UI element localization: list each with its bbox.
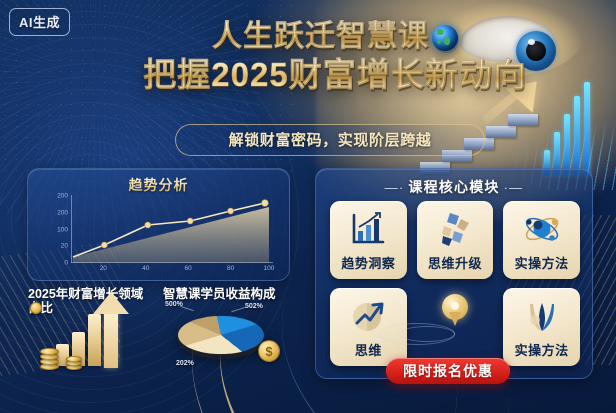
x-tick-1: 40 — [142, 265, 149, 272]
pin-tip — [449, 312, 461, 326]
location-pin-icon — [442, 294, 468, 328]
ai-generated-badge: AI生成 — [9, 8, 70, 36]
dollar-coin-icon: $ — [258, 340, 280, 362]
headline-block: 人生跃迁智慧课 把握2025财富增长新动向 — [120, 20, 550, 94]
y-tick-3: 200 — [57, 209, 68, 216]
gold-bar-chart-graphic — [38, 300, 158, 372]
atom-icon — [521, 209, 563, 249]
line-chart: 0 20 100 200 200 20 40 60 80 100 — [45, 193, 277, 275]
line-chart-svg — [71, 195, 273, 263]
pie-label-1: 502% — [245, 303, 263, 310]
bar-chart-icon — [347, 209, 389, 249]
module-card-trend-insight[interactable]: 趋势洞察 — [330, 201, 407, 279]
module-card-label: 实操方法 — [515, 253, 569, 272]
y-tick-0: 0 — [64, 260, 68, 267]
poster-canvas: AI生成 人生跃迁智慧课 把握2025财富增长新动向 解锁财富密码，实现阶层跨越… — [0, 0, 616, 413]
y-tick-2: 100 — [57, 227, 68, 234]
gold-up-arrow-icon — [104, 310, 118, 368]
trend-analysis-panel: 趋势分析 0 20 100 200 200 20 40 60 80 100 — [27, 168, 290, 281]
module-card-label: 思维升级 — [428, 253, 482, 272]
pie-leader-1 — [231, 307, 246, 313]
heading-text: 课程核心模块 — [408, 179, 499, 195]
x-tick-4: 100 — [264, 265, 275, 272]
title-line-2: 把握2025财富增长新动向 — [120, 56, 550, 94]
x-tick-2: 60 — [185, 265, 192, 272]
module-card-label: 趋势洞察 — [341, 253, 395, 272]
pie-leader-0 — [180, 306, 194, 311]
module-card-grid: 趋势洞察 思维升级 — [330, 201, 580, 366]
puzzle-icon — [434, 209, 476, 249]
heading-deco-right: ·— — [504, 180, 524, 195]
area-fill — [73, 207, 269, 263]
pie-label-2: 202% — [176, 360, 194, 367]
module-card-label: 思维 — [355, 340, 382, 359]
page-title: 人生跃迁智慧课 — [120, 20, 550, 54]
globe-icon — [432, 25, 458, 51]
pin-hole — [451, 302, 459, 310]
title-line-1: 人生跃迁智慧课 — [212, 20, 429, 53]
module-card-mindset-upgrade[interactable]: 思维升级 — [417, 201, 494, 279]
pie-section-title: 智慧课学员收益构成 — [163, 287, 289, 301]
module-card-practical-method-2[interactable]: 实操方法 — [503, 288, 580, 366]
pie-chart — [178, 316, 264, 354]
subtitle-pill: 解锁财富密码，实现阶层跨越 — [175, 124, 485, 156]
line-chart-plot: 0 20 100 200 200 20 40 60 80 100 — [71, 195, 273, 263]
core-modules-heading: —·课程核心模块·— — [316, 177, 592, 197]
y-tick-4: 200 — [57, 193, 68, 200]
cta-button[interactable]: 限时报名优惠 — [386, 358, 510, 384]
module-card-label: 实操方法 — [515, 340, 569, 359]
x-tick-0: 20 — [100, 265, 107, 272]
leaf-icon — [521, 296, 563, 336]
module-card-practical-method-1[interactable]: 实操方法 — [503, 201, 580, 279]
y-tick-1: 20 — [61, 243, 68, 250]
core-modules-panel: —·课程核心模块·— 趋势洞察 — [315, 168, 593, 379]
heading-deco-left: —· — [385, 180, 405, 195]
x-tick-3: 80 — [227, 265, 234, 272]
module-card-location-placeholder — [417, 288, 494, 366]
single-coin — [30, 302, 42, 314]
